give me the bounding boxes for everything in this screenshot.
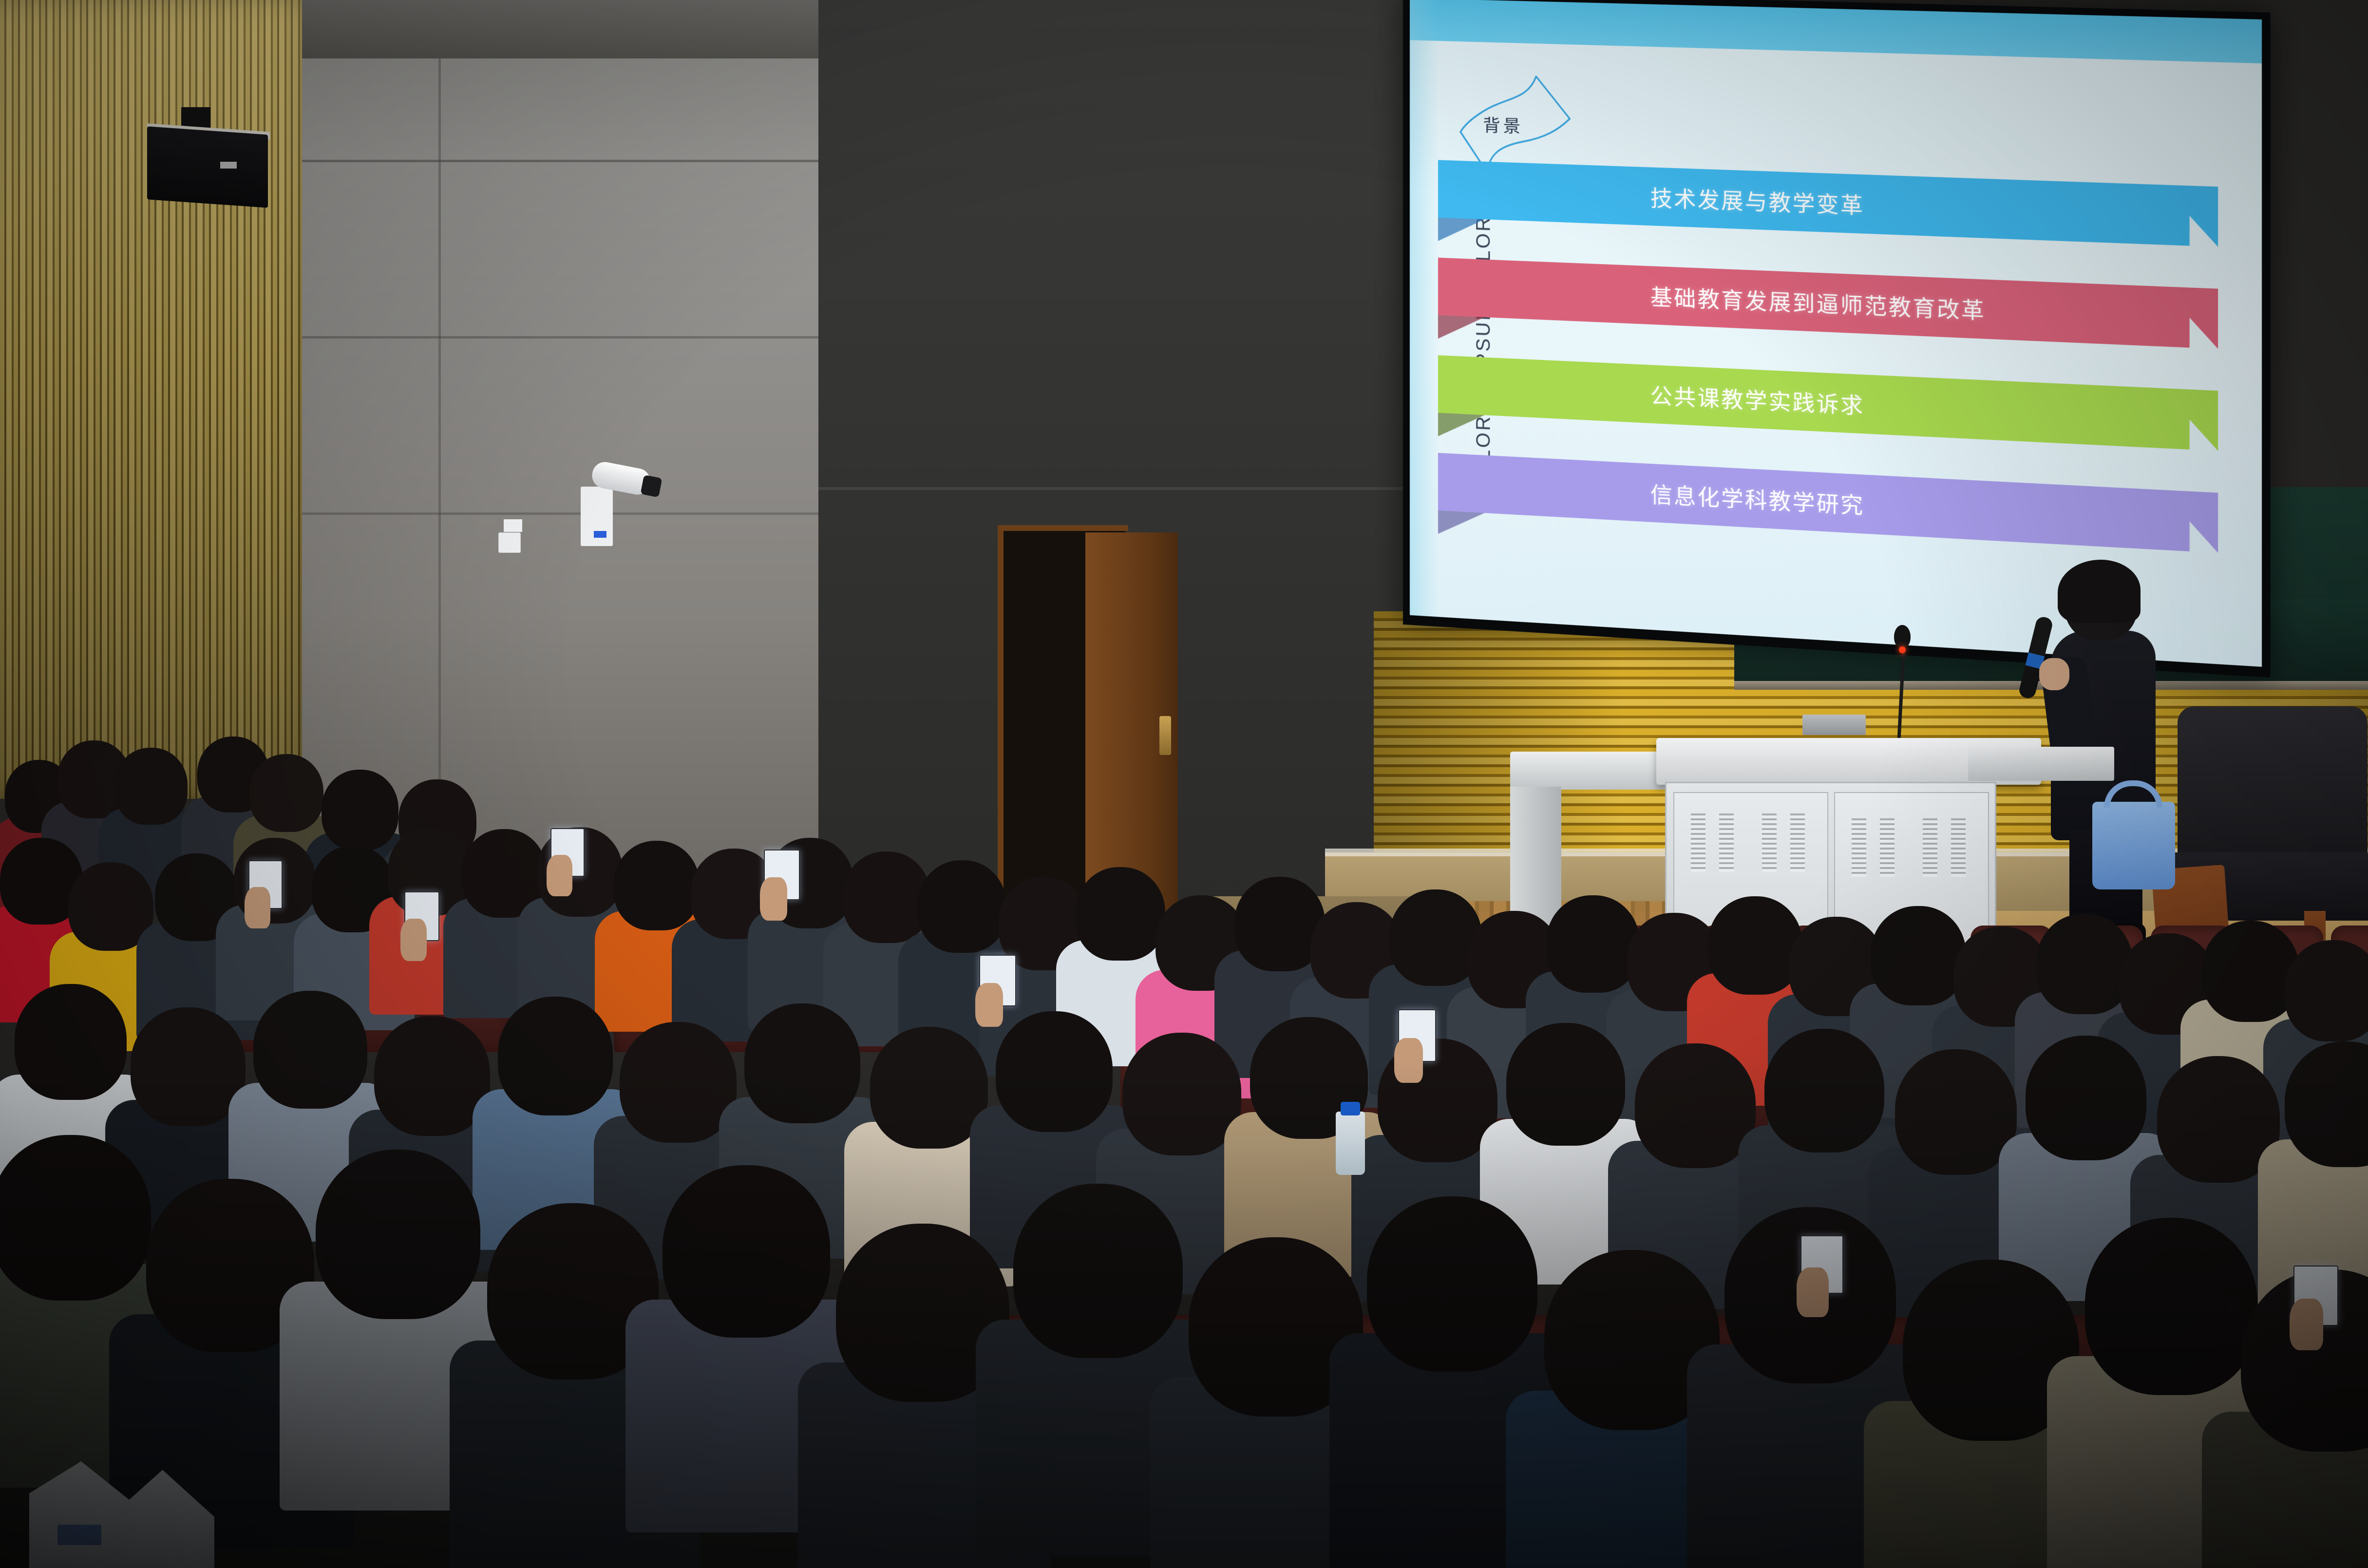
audience-member-head <box>498 997 613 1115</box>
audience-member-head <box>744 1003 860 1123</box>
audience <box>0 0 2368 1568</box>
audience-member-head <box>2026 1036 2146 1160</box>
audience-member-head <box>1764 1029 1884 1152</box>
audience-hand <box>975 983 1003 1027</box>
audience-hand <box>760 877 787 920</box>
audience-member-head <box>996 1011 1113 1132</box>
audience-member-head <box>2285 940 2368 1041</box>
audience-hand <box>1797 1267 1829 1317</box>
audience-member-head <box>0 1135 151 1301</box>
audience-member-head <box>1546 895 1640 993</box>
audience-member-head <box>249 754 323 832</box>
audience-member-head <box>1367 1196 1537 1372</box>
audience-member-head <box>1895 1049 2017 1175</box>
audience-member-head <box>1076 867 1165 961</box>
audience-hand <box>245 887 270 928</box>
audience-member-head <box>322 770 398 850</box>
audience-member-head <box>1122 1033 1241 1155</box>
audience-member-head <box>15 984 127 1100</box>
audience-member-head <box>1635 1043 1756 1168</box>
lecture-hall-photo: 背景 LOREM IPSUM DOLOR 技术发展与教学变革基础教育发展到逼师范… <box>0 0 2368 1568</box>
audience-hand <box>2290 1299 2323 1350</box>
paper-logo <box>57 1525 101 1545</box>
audience-member-head <box>614 841 700 930</box>
audience-member-head <box>114 748 188 825</box>
audience-member-head <box>918 860 1006 953</box>
audience-hand <box>400 919 427 961</box>
audience-member-head <box>316 1150 480 1319</box>
audience-member-head <box>663 1165 830 1338</box>
audience-member-head <box>1013 1184 1183 1358</box>
audience-member <box>2285 1041 2368 1293</box>
audience-member-head <box>843 851 930 943</box>
audience-hand <box>547 855 572 896</box>
audience-member-head <box>2285 1041 2368 1167</box>
audience-member-head <box>253 991 367 1109</box>
audience-member-head <box>1871 906 1966 1005</box>
water-bottle <box>1336 1112 1365 1175</box>
audience-member-head <box>2036 914 2133 1014</box>
audience-member-head <box>2085 1218 2257 1395</box>
audience-member-head <box>1708 896 1802 995</box>
audience-member-head <box>1506 1023 1625 1146</box>
audience-hand <box>1394 1038 1423 1083</box>
water-bottle-cap <box>1341 1102 1360 1115</box>
